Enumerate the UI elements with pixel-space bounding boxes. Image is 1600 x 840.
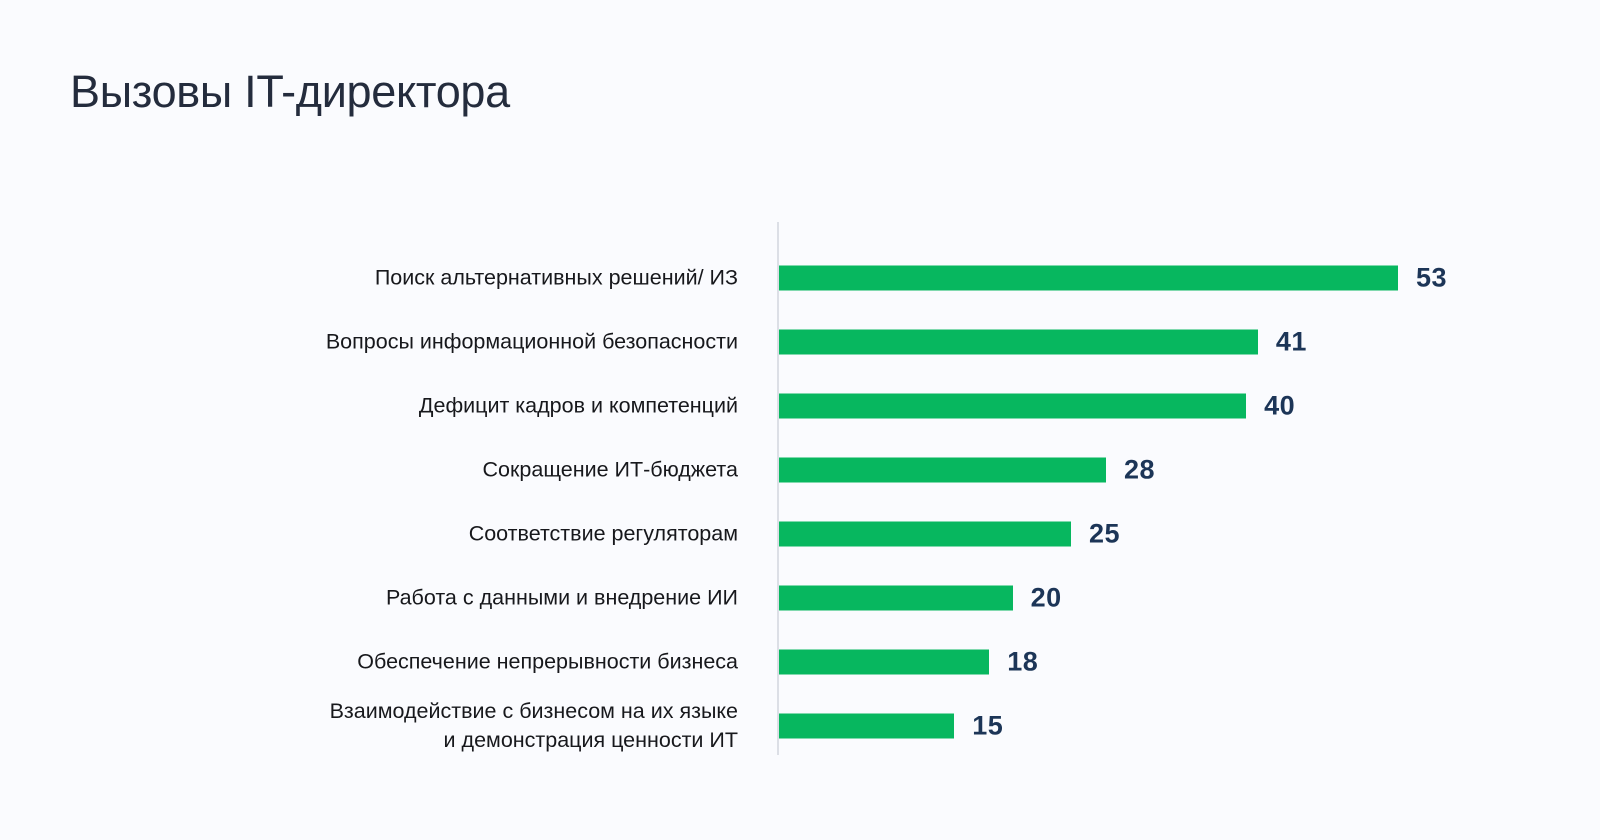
- bar-track: [779, 266, 1398, 291]
- bar-value-label: 28: [1124, 455, 1155, 486]
- bar-row: Дефицит кадров и компетенций40: [0, 374, 1600, 438]
- bar-fill: [779, 586, 1013, 611]
- bar-fill: [779, 522, 1071, 547]
- bar-row: Вопросы информационной безопасности41: [0, 310, 1600, 374]
- bar-track: [779, 650, 989, 675]
- bar-fill: [779, 266, 1398, 291]
- bar-fill: [779, 394, 1246, 419]
- bar-category-label: Взаимодействие с бизнесом на их языке и …: [138, 697, 738, 755]
- bar-value-label: 40: [1264, 391, 1295, 422]
- bar-fill: [779, 330, 1258, 355]
- page-title: Вызовы IT-директора: [70, 66, 510, 118]
- bar-category-label: Сокращение ИТ-бюджета: [138, 456, 738, 485]
- bar-row: Взаимодействие с бизнесом на их языке и …: [0, 694, 1600, 758]
- bar-category-label: Дефицит кадров и компетенций: [138, 392, 738, 421]
- bar-track: [779, 330, 1258, 355]
- bar-track: [779, 714, 954, 739]
- slide-canvas: Вызовы IT-директора Поиск альтернативных…: [0, 0, 1600, 840]
- bar-row: Поиск альтернативных решений/ ИЗ53: [0, 246, 1600, 310]
- bar-category-label: Обеспечение непрерывности бизнеса: [138, 648, 738, 677]
- bar-fill: [779, 458, 1106, 483]
- bar-value-label: 53: [1416, 263, 1447, 294]
- bar-row: Обеспечение непрерывности бизнеса18: [0, 630, 1600, 694]
- bar-fill: [779, 714, 954, 739]
- bar-track: [779, 394, 1246, 419]
- bar-row: Соответствие регуляторам25: [0, 502, 1600, 566]
- bar-value-label: 20: [1031, 583, 1062, 614]
- bar-value-label: 15: [972, 711, 1003, 742]
- bar-row: Работа с данными и внедрение ИИ20: [0, 566, 1600, 630]
- bar-track: [779, 522, 1071, 547]
- bar-value-label: 41: [1276, 327, 1307, 358]
- bar-track: [779, 586, 1013, 611]
- bar-category-label: Работа с данными и внедрение ИИ: [138, 584, 738, 613]
- bar-category-label: Соответствие регуляторам: [138, 520, 738, 549]
- bar-track: [779, 458, 1106, 483]
- bar-category-label: Поиск альтернативных решений/ ИЗ: [138, 264, 738, 293]
- bar-fill: [779, 650, 989, 675]
- bar-category-label: Вопросы информационной безопасности: [138, 328, 738, 357]
- bar-row: Сокращение ИТ-бюджета28: [0, 438, 1600, 502]
- bar-value-label: 25: [1089, 519, 1120, 550]
- bar-chart-plot-area: Поиск альтернативных решений/ ИЗ53Вопрос…: [0, 222, 1600, 767]
- bar-value-label: 18: [1007, 647, 1038, 678]
